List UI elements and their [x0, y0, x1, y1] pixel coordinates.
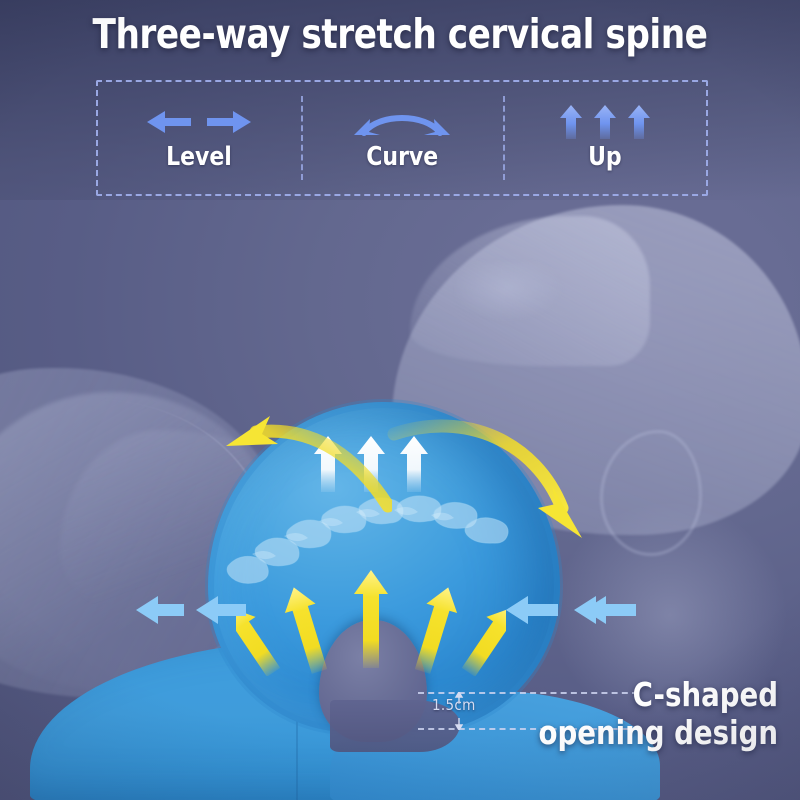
c-shaped-caption-line2: opening design — [499, 714, 778, 752]
pillow-rim — [205, 399, 563, 735]
c-shaped-caption-line1: C-shaped — [499, 676, 778, 714]
feature-item-level[interactable]: Level — [98, 82, 301, 194]
face-profile-contour — [410, 216, 650, 366]
triple-up-arrow-icon — [559, 105, 651, 139]
dimension-label: 1.5cm — [432, 696, 476, 714]
product-feature-image: 1.5cm C-shaped opening design Three-way … — [0, 0, 800, 800]
arc-double-arrow-icon — [350, 105, 454, 139]
dimension-arrow-vertical — [452, 692, 466, 730]
yellow-curved-arrow-left — [212, 410, 392, 520]
feature-label-curve: Curve — [366, 143, 438, 171]
feature-label-up: Up — [588, 143, 622, 171]
c-opening-notch — [330, 700, 460, 752]
chin-shading — [455, 262, 585, 328]
dimension-line-top — [418, 692, 638, 694]
pillow-base-seam — [296, 660, 298, 800]
head-back-glow — [520, 470, 800, 760]
feature-item-curve[interactable]: Curve — [301, 82, 504, 194]
yellow-curved-arrow-right — [386, 404, 596, 554]
white-up-arrows-group — [312, 436, 442, 492]
blue-right-arrows-visible — [506, 590, 636, 630]
torso-silhouette — [0, 368, 280, 698]
arm-contour-line — [0, 400, 272, 670]
dimension-line-bottom — [418, 728, 638, 730]
pillow-halo — [198, 392, 570, 744]
c-shaped-caption: C-shaped opening design — [499, 676, 778, 752]
arrows-left-right-icon — [145, 105, 253, 139]
pillow-base — [30, 640, 530, 800]
blue-right-arrows-group — [506, 590, 636, 630]
yellow-fan-arrows-group — [236, 556, 506, 676]
pillow-base-right — [330, 690, 660, 800]
c-shaped-opening — [319, 620, 427, 742]
ear-outline — [600, 430, 702, 556]
feature-label-level: Level — [166, 143, 232, 171]
blue-left-arrows-group — [136, 590, 248, 630]
head-silhouette — [392, 205, 800, 535]
cervical-pillow — [208, 402, 560, 732]
shoulder-silhouette — [0, 392, 270, 692]
cervical-vertebrae-graphic — [222, 470, 522, 590]
feature-row: Level Curve — [96, 80, 708, 196]
neck-fold-shading — [60, 430, 310, 630]
feature-item-up[interactable]: Up — [503, 82, 706, 194]
page-title: Three-way stretch cervical spine — [28, 4, 772, 64]
